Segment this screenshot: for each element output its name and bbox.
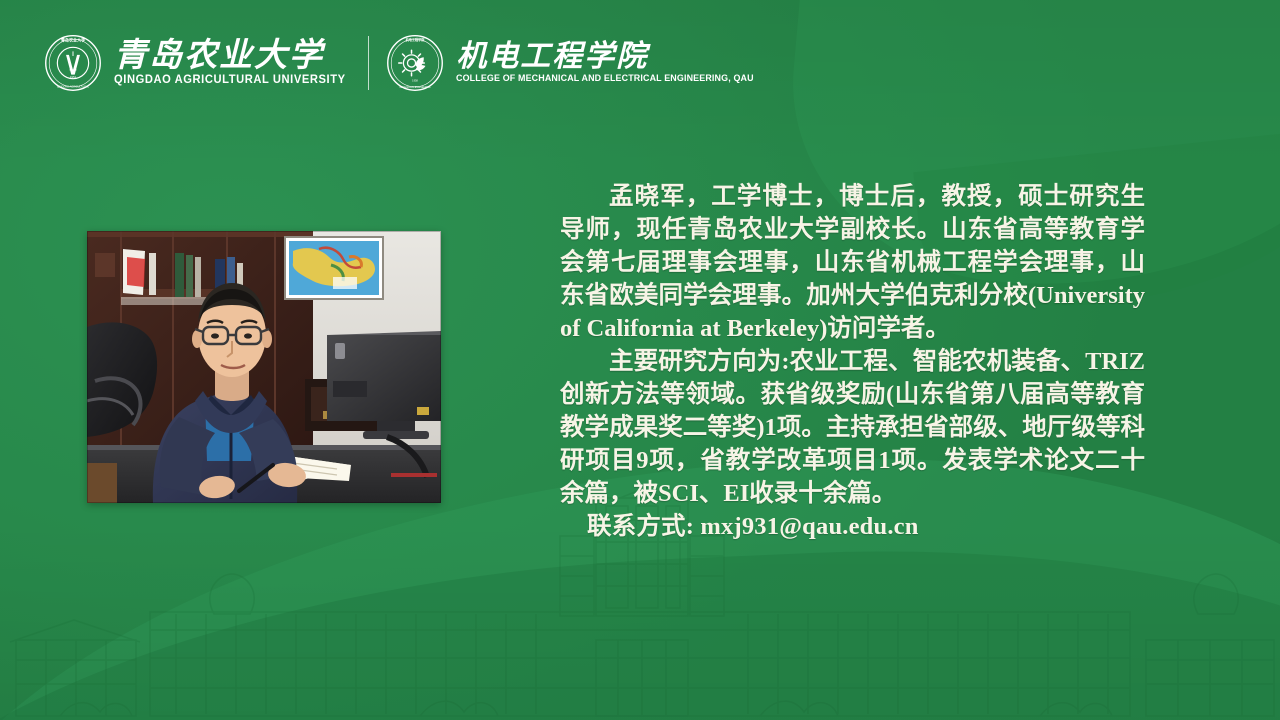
college-logo: 机电工程学院 MECHANICAL ENGINEERING 1958 机电工程学… [386, 34, 763, 92]
slide-header: 青岛农业大学 QINGDAO AGRICULTURAL 1951 青岛农业大学 … [44, 28, 763, 98]
svg-text:青岛农业大学: 青岛农业大学 [61, 37, 85, 43]
svg-text:1951: 1951 [70, 75, 77, 79]
college-name-en: COLLEGE OF MECHANICAL AND ELECTRICAL ENG… [456, 74, 754, 83]
university-logo: 青岛农业大学 QINGDAO AGRICULTURAL 1951 青岛农业大学 … [44, 34, 353, 92]
college-seal-icon: 机电工程学院 MECHANICAL ENGINEERING 1958 [386, 34, 444, 92]
college-logo-text: 机电工程学院 COLLEGE OF MECHANICAL AND ELECTRI… [456, 42, 763, 83]
university-logo-text: 青岛农业大学 QINGDAO AGRICULTURAL UNIVERSITY [114, 40, 353, 87]
college-name-cn: 机电工程学院 [456, 42, 763, 72]
portrait-photo-image [87, 231, 441, 503]
bio-paragraph-2: 主要研究方向为:农业工程、智能农机装备、TRIZ创新方法等领域。获省级奖励(山东… [560, 345, 1145, 510]
portrait-photo [87, 231, 441, 503]
svg-text:MECHANICAL ENGINEERING: MECHANICAL ENGINEERING [400, 86, 431, 89]
presentation-slide: 青岛农业大学 QINGDAO AGRICULTURAL 1951 青岛农业大学 … [0, 0, 1280, 720]
svg-text:机电工程学院: 机电工程学院 [405, 37, 426, 42]
bio-paragraph-1: 孟晓军，工学博士，博士后，教授，硕士研究生导师，现任青岛农业大学副校长。山东省高… [560, 180, 1145, 345]
svg-text:1958: 1958 [412, 79, 418, 83]
biography-text-block: 孟晓军，工学博士，博士后，教授，硕士研究生导师，现任青岛农业大学副校长。山东省高… [560, 180, 1145, 543]
university-seal-icon: 青岛农业大学 QINGDAO AGRICULTURAL 1951 [44, 34, 102, 92]
svg-text:QINGDAO AGRICULTURAL: QINGDAO AGRICULTURAL [57, 84, 90, 88]
university-name-en: QINGDAO AGRICULTURAL UNIVERSITY [114, 75, 346, 87]
logo-divider [368, 36, 370, 90]
university-name-cn: 青岛农业大学 [114, 40, 353, 73]
contact-line: 联系方式: mxj931@qau.edu.cn [560, 510, 1145, 543]
